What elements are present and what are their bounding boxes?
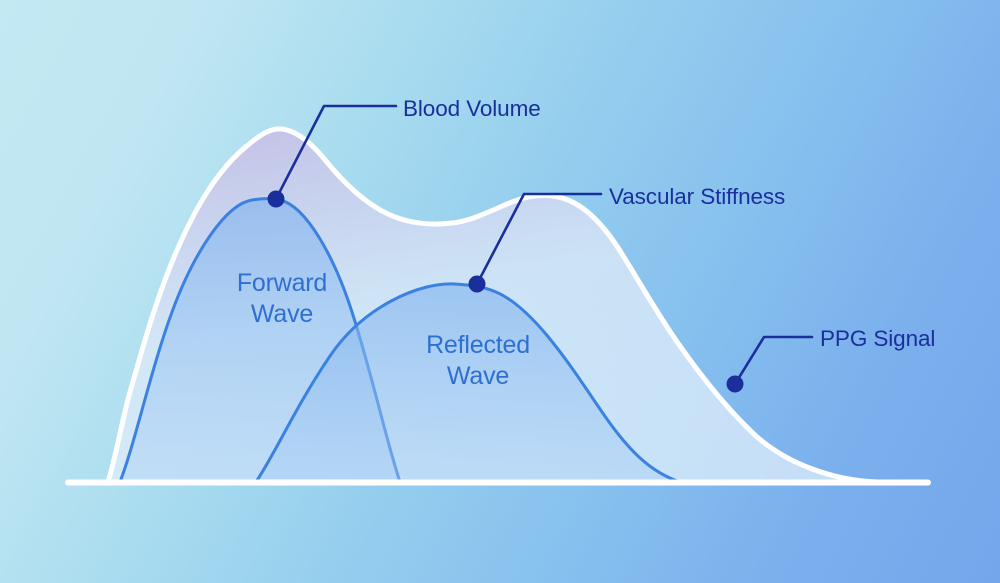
blood-volume-marker-dot[interactable] <box>268 191 285 208</box>
ppg-waveform-figure: Blood Volume Vascular Stiffness PPG Sign… <box>0 0 1000 583</box>
ppg-signal-leader-line <box>735 337 812 384</box>
vascular-stiffness-marker-dot[interactable] <box>469 276 486 293</box>
waveform-canvas <box>0 0 1000 583</box>
ppg-signal-marker-dot[interactable] <box>727 376 744 393</box>
